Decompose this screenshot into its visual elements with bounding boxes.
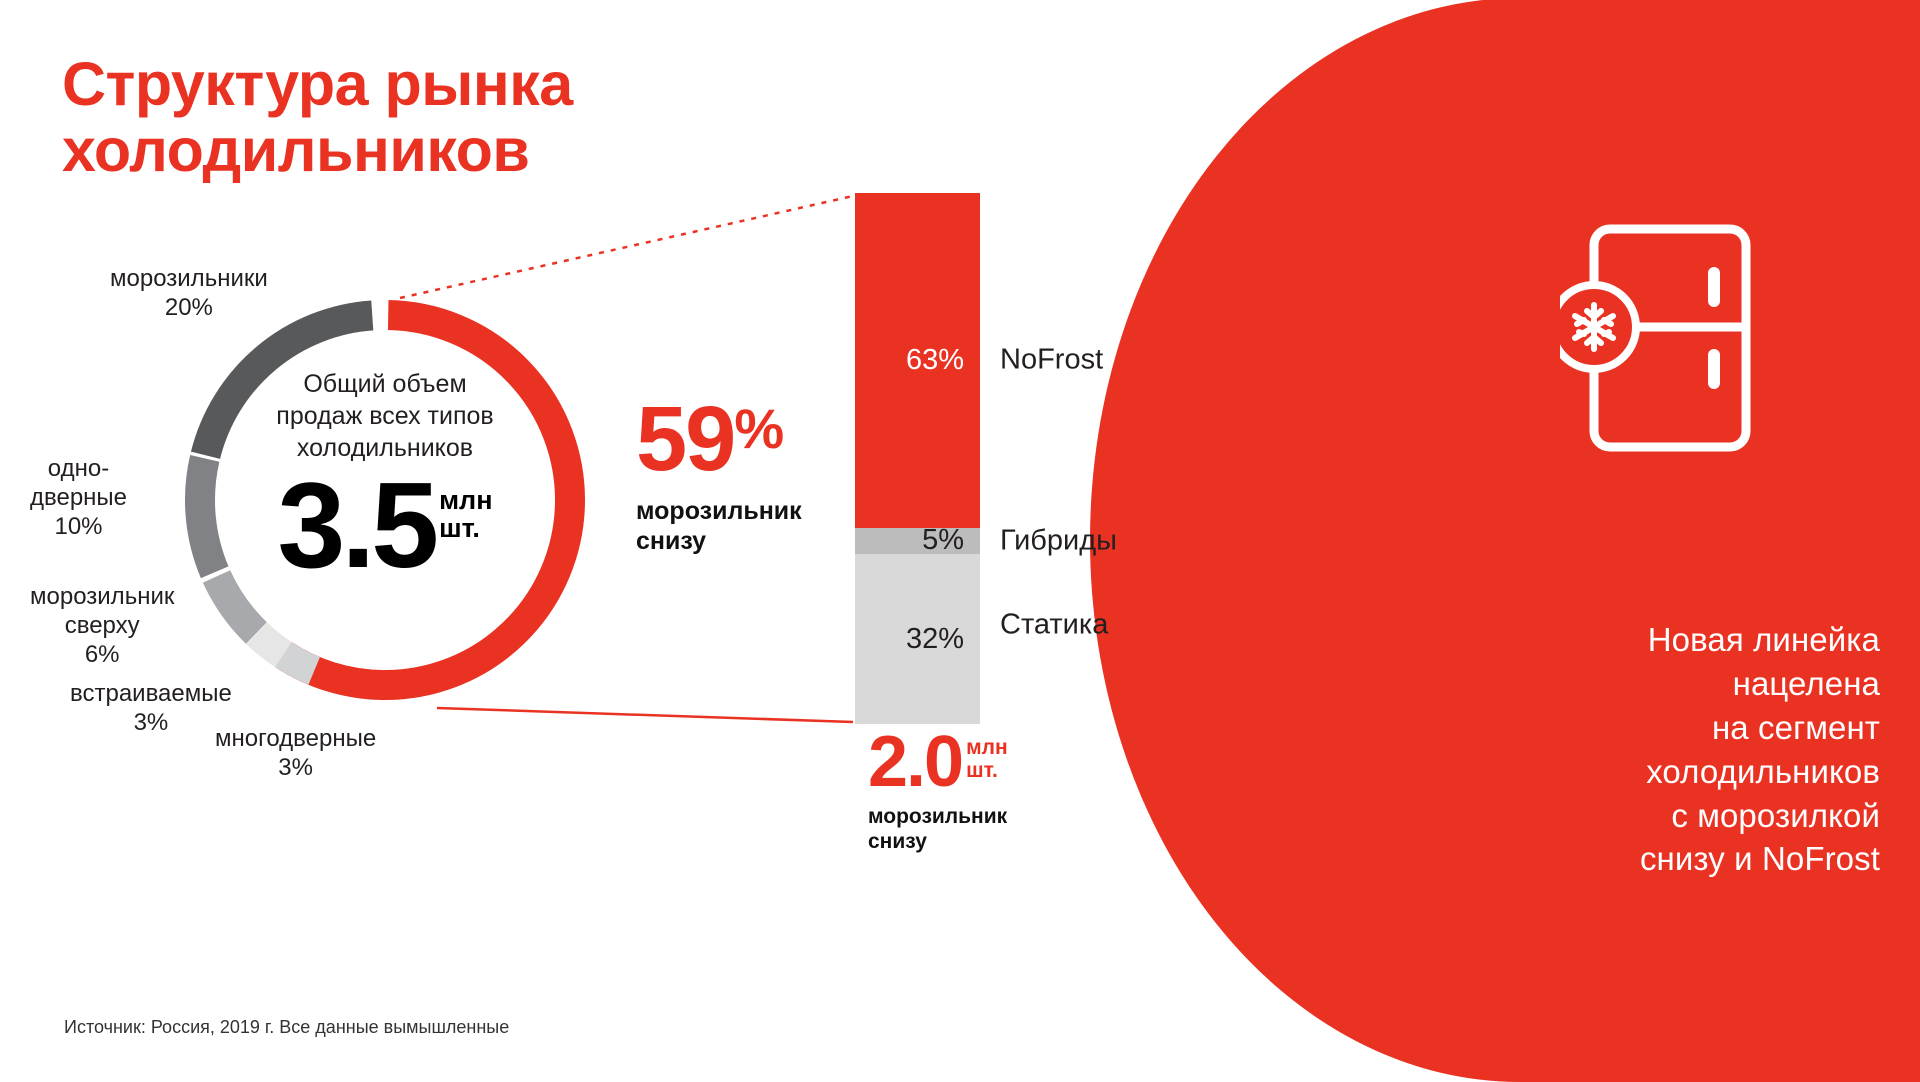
bar-total-caption-line: снизу (868, 830, 1118, 855)
panel-message-line: снизу и NoFrost (1420, 837, 1880, 881)
donut-center-block: Общий объем продаж всех типов холодильни… (235, 368, 535, 579)
panel-message-line: Новая линейка (1420, 618, 1880, 662)
bar-total-caption: морозильник снизу (868, 805, 1118, 855)
bar-total-unit-line: млн (966, 737, 1008, 760)
bar-total-caption-line: морозильник (868, 805, 1118, 830)
bar-segment-static: 32% Статика (855, 554, 980, 724)
panel-message-line: холодильников (1420, 750, 1880, 794)
highlight-caption-line: снизу (636, 527, 866, 557)
panel-message-line: на сегмент (1420, 706, 1880, 750)
donut-label-freezer-top: морозильниксверху6% (30, 583, 174, 669)
donut-label-single-door: одно-дверные10% (30, 455, 127, 541)
bar-total-unit-line: шт. (966, 760, 1008, 783)
donut-caption-line: Общий объем (235, 368, 535, 400)
bar-segment-hybrid: 5% Гибриды (855, 528, 980, 555)
donut-unit-line: млн (439, 486, 492, 514)
bar-segment-value: 63% (906, 344, 980, 377)
bar-segment-value: 32% (906, 623, 980, 656)
highlight-stat: 59% морозильник снизу (636, 396, 866, 556)
callout-line-top (400, 196, 853, 298)
donut-chart: Общий объем продаж всех типов холодильни… (175, 290, 595, 710)
page-title: Структура рынка холодильников (62, 52, 762, 184)
bar-total-block: 2.0 млн шт. морозильник снизу (868, 733, 1118, 855)
highlight-caption: морозильник снизу (636, 497, 866, 556)
bar-segment-nofrost: 63% NoFrost (855, 193, 980, 528)
donut-label-builtin: встраиваемые3% (70, 680, 232, 738)
panel-message-line: нацелена (1420, 662, 1880, 706)
callout-line-bottom (437, 708, 853, 722)
donut-center-caption: Общий объем продаж всех типов холодильни… (235, 368, 535, 464)
panel-message: Новая линейка нацелена на сегмент холоди… (1420, 618, 1880, 881)
highlight-value: 59% (636, 396, 866, 483)
bar-legend-hybrid: Гибриды (1000, 524, 1117, 557)
highlight-caption-line: морозильник (636, 497, 866, 527)
bar-segment-value: 5% (922, 524, 980, 557)
stacked-bar-chart: 63% NoFrost 5% Гибриды 32% Статика (855, 193, 980, 724)
donut-label-multidoor: многодверные3% (215, 725, 376, 783)
donut-label-freezers: морозильники20% (110, 265, 268, 323)
donut-caption-line: продаж всех типов (235, 400, 535, 432)
donut-total-unit: млн шт. (439, 486, 492, 543)
bar-legend-static: Статика (1000, 609, 1108, 642)
bar-total-unit: млн шт. (966, 737, 1008, 782)
highlight-number: 59 (636, 388, 734, 490)
bar-legend-nofrost: NoFrost (1000, 344, 1103, 377)
bar-total-value: 2.0 (868, 733, 962, 792)
donut-unit-line: шт. (439, 514, 492, 542)
donut-total-value: 3.5 (277, 472, 435, 579)
panel-message-line: с морозилкой (1420, 794, 1880, 838)
highlight-percent-sign: % (734, 397, 783, 460)
right-highlight-panel: Новая линейка нацелена на сегмент холоди… (1090, 0, 1920, 1082)
refrigerator-snowflake-icon (1560, 223, 1780, 458)
source-note: Источник: Россия, 2019 г. Все данные вым… (64, 1017, 509, 1038)
